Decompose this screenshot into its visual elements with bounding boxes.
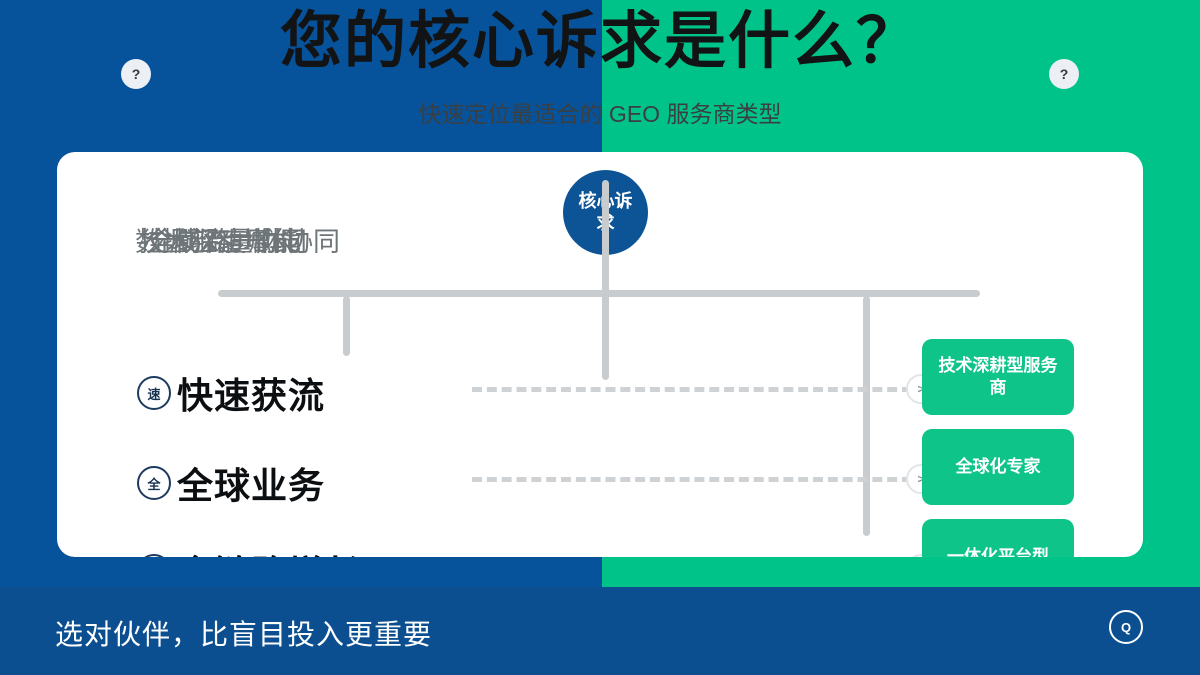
need-row-2[interactable]: 全 全球业务 bbox=[137, 457, 325, 509]
result-card-3[interactable]: 一体化平台型 bbox=[922, 519, 1074, 557]
search-icon[interactable]: Q bbox=[1109, 610, 1143, 644]
branch-stem-left bbox=[343, 296, 350, 356]
diagram-card: 数据驱动增长 技术深度赋能 全域流量协同 全链路一体协同 核心诉求 速 快速获流… bbox=[57, 152, 1143, 557]
branch-stem-right bbox=[863, 296, 870, 536]
need-row-1[interactable]: 速 快速获流 bbox=[137, 367, 325, 419]
result-card-1[interactable]: 技术深耕型服务商 bbox=[922, 339, 1074, 415]
slide-root: 您的核心诉求是什么？ 快速定位最适合的 GEO 服务商类型 ? ? 数据驱动增长… bbox=[0, 0, 1200, 675]
descriptor-stack: 数据驱动增长 技术深度赋能 全域流量协同 全链路一体协同 bbox=[135, 220, 595, 260]
page-subtitle: 快速定位最适合的 GEO 服务商类型 bbox=[0, 95, 1200, 129]
help-icon-right[interactable]: ? bbox=[1049, 59, 1079, 89]
result-card-2[interactable]: 全球化专家 bbox=[922, 429, 1074, 505]
connector-dashed-2 bbox=[472, 477, 912, 482]
need-row-3[interactable]: 链 全链路增长 bbox=[137, 545, 362, 557]
branch-stem-center bbox=[602, 180, 609, 380]
help-icon-left[interactable]: ? bbox=[121, 59, 151, 89]
connector-dashed-1 bbox=[472, 387, 912, 392]
need-label-1: 快速获流 bbox=[177, 367, 325, 419]
need-label-2: 全球业务 bbox=[177, 457, 325, 509]
footer-tagline: 选对伙伴，比盲目投入更重要 bbox=[55, 613, 432, 653]
need-badge-icon-1: 速 bbox=[137, 376, 171, 410]
need-badge-icon-2: 全 bbox=[137, 466, 171, 500]
page-title: 您的核心诉求是什么？ bbox=[0, 6, 1200, 77]
footer-bar: 选对伙伴，比盲目投入更重要 bbox=[0, 587, 1200, 675]
decision-diagram: 数据驱动增长 技术深度赋能 全域流量协同 全链路一体协同 核心诉求 速 快速获流… bbox=[57, 152, 1143, 557]
header: 您的核心诉求是什么？ 快速定位最适合的 GEO 服务商类型 ? ? bbox=[0, 0, 1200, 140]
need-label-3: 全链路增长 bbox=[177, 545, 362, 557]
need-badge-icon-3: 链 bbox=[137, 554, 171, 557]
descriptor-text-4: 全链路一体协同 bbox=[151, 220, 340, 259]
